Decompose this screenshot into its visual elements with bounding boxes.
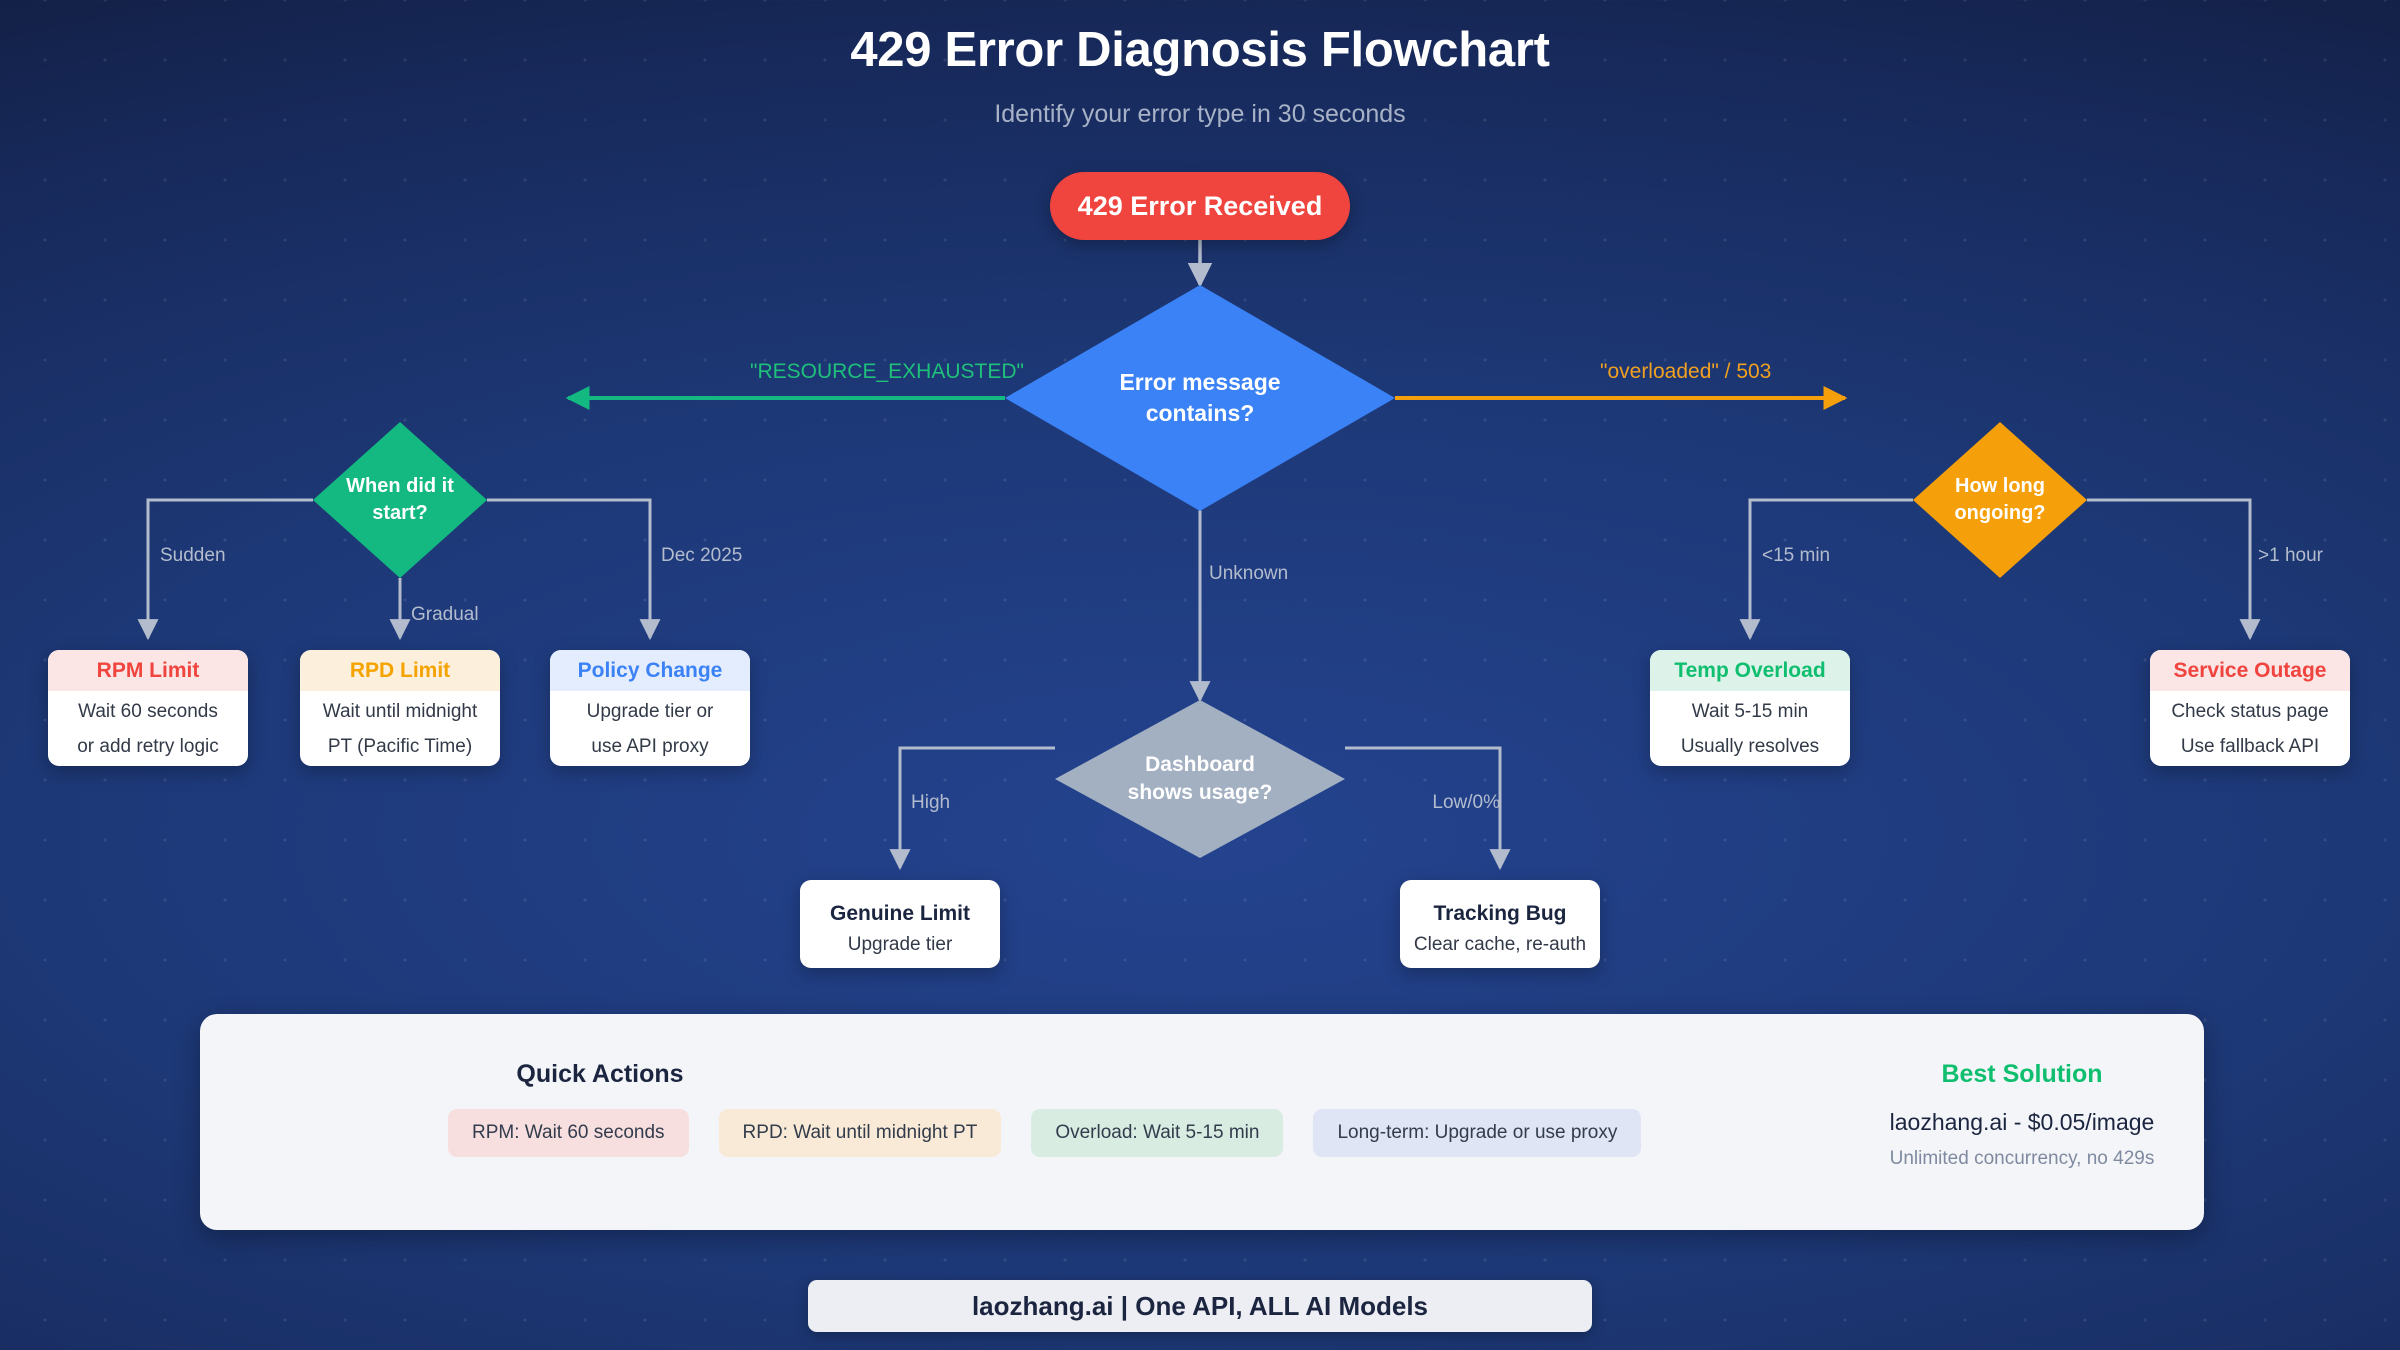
best-solution-heading: Best Solution (1640, 1060, 2400, 1089)
card-tracking-bug-title: Tracking Bug (1400, 880, 1600, 934)
decision-line-1: How long (1954, 473, 2045, 500)
node-decision-dashboard-usage-label: Dashboard shows usage? (1055, 700, 1345, 858)
quick-actions-chip-list: RPM: Wait 60 secondsRPD: Wait until midn… (448, 1109, 1641, 1157)
node-decision-when-start-label: When did it start? (313, 422, 487, 578)
card-body-line-2: PT (Pacific Time) (328, 736, 472, 759)
card-body-line-1: Wait 5-15 min (1692, 701, 1809, 724)
card-rpd-limit-body: Wait until midnight PT (Pacific Time) (300, 691, 500, 766)
node-decision-dashboard-usage[interactable]: Dashboard shows usage? (1055, 700, 1345, 858)
edge-label-gradual: Gradual (411, 604, 479, 626)
card-tracking-bug-body: Clear cache, re-auth (1400, 934, 1600, 968)
flowchart-canvas: 429 Error Diagnosis Flowchart Identify y… (0, 0, 2400, 1350)
decision-line-2: start? (346, 500, 454, 527)
card-body-line-1: Check status page (2171, 701, 2328, 724)
edge-label-low: Low/0% (1432, 792, 1500, 814)
card-body-line-1: Upgrade tier (848, 934, 953, 957)
edge-label-dec-2025: Dec 2025 (661, 545, 742, 567)
edge-label-high: High (911, 792, 950, 814)
node-decision-how-long-ongoing[interactable]: How long ongoing? (1913, 422, 2087, 578)
decision-line-2: contains? (1119, 398, 1280, 429)
node-decision-when-start[interactable]: When did it start? (313, 422, 487, 578)
card-body-line-2: use API proxy (591, 736, 708, 759)
card-body-line-1: Wait 60 seconds (78, 701, 218, 724)
node-start-label: 429 Error Received (1078, 191, 1323, 222)
node-decision-error-message[interactable]: Error message contains? (1005, 285, 1395, 511)
card-rpm-limit[interactable]: RPM Limit Wait 60 seconds or add retry l… (48, 650, 248, 766)
best-solution-main: laozhang.ai - $0.05/image (1640, 1109, 2400, 1136)
quick-action-chip-label: Long-term: Upgrade or use proxy (1337, 1122, 1617, 1144)
card-temp-overload-title: Temp Overload (1650, 650, 1850, 691)
quick-actions-heading: Quick Actions (360, 1060, 840, 1089)
edge-label-gt-1-hour: >1 hour (2258, 545, 2323, 567)
decision-line-1: Error message (1119, 367, 1280, 398)
summary-panel: Quick Actions RPM: Wait 60 secondsRPD: W… (200, 1014, 2204, 1230)
node-decision-error-message-label: Error message contains? (1005, 285, 1395, 511)
card-service-outage[interactable]: Service Outage Check status page Use fal… (2150, 650, 2350, 766)
node-decision-how-long-ongoing-label: How long ongoing? (1913, 422, 2087, 578)
card-genuine-limit[interactable]: Genuine Limit Upgrade tier (800, 880, 1000, 968)
card-temp-overload-body: Wait 5-15 min Usually resolves (1650, 691, 1850, 766)
quick-action-chip[interactable]: Long-term: Upgrade or use proxy (1313, 1109, 1641, 1157)
card-policy-change[interactable]: Policy Change Upgrade tier or use API pr… (550, 650, 750, 766)
card-policy-change-body: Upgrade tier or use API proxy (550, 691, 750, 766)
card-genuine-limit-body: Upgrade tier (800, 934, 1000, 968)
card-body-line-1: Upgrade tier or (587, 701, 714, 724)
card-service-outage-body: Check status page Use fallback API (2150, 691, 2350, 766)
quick-action-chip[interactable]: Overload: Wait 5-15 min (1031, 1109, 1283, 1157)
card-rpm-limit-title: RPM Limit (48, 650, 248, 691)
card-rpd-limit[interactable]: RPD Limit Wait until midnight PT (Pacifi… (300, 650, 500, 766)
card-policy-change-title: Policy Change (550, 650, 750, 691)
best-solution-content: laozhang.ai - $0.05/image Unlimited conc… (1640, 1109, 2400, 1170)
card-service-outage-title: Service Outage (2150, 650, 2350, 691)
card-tracking-bug[interactable]: Tracking Bug Clear cache, re-auth (1400, 880, 1600, 968)
edge-label-overloaded: "overloaded" / 503 (1600, 360, 1771, 384)
card-body-line-1: Clear cache, re-auth (1414, 934, 1586, 957)
footer-brand-label: laozhang.ai | One API, ALL AI Models (972, 1291, 1428, 1322)
quick-action-chip-label: RPD: Wait until midnight PT (743, 1122, 978, 1144)
card-body-line-2: Use fallback API (2181, 736, 2319, 759)
footer-brand-banner[interactable]: laozhang.ai | One API, ALL AI Models (808, 1280, 1592, 1332)
card-genuine-limit-title: Genuine Limit (800, 880, 1000, 934)
edge-label-unknown: Unknown (1209, 563, 1288, 585)
node-start-429-error[interactable]: 429 Error Received (1050, 172, 1350, 240)
decision-line-2: ongoing? (1954, 500, 2045, 527)
decision-line-1: When did it (346, 473, 454, 500)
quick-action-chip[interactable]: RPD: Wait until midnight PT (719, 1109, 1002, 1157)
edge-label-resource-exhausted: "RESOURCE_EXHAUSTED" (750, 360, 1024, 384)
card-rpm-limit-body: Wait 60 seconds or add retry logic (48, 691, 248, 766)
quick-action-chip[interactable]: RPM: Wait 60 seconds (448, 1109, 689, 1157)
card-body-line-2: Usually resolves (1681, 736, 1819, 759)
card-body-line-1: Wait until midnight (323, 701, 478, 724)
card-temp-overload[interactable]: Temp Overload Wait 5-15 min Usually reso… (1650, 650, 1850, 766)
best-solution-sub: Unlimited concurrency, no 429s (1640, 1148, 2400, 1170)
quick-action-chip-label: Overload: Wait 5-15 min (1055, 1122, 1259, 1144)
card-body-line-2: or add retry logic (77, 736, 219, 759)
edge-label-sudden: Sudden (160, 545, 226, 567)
edge-label-lt-15-min: <15 min (1762, 545, 1830, 567)
quick-action-chip-label: RPM: Wait 60 seconds (472, 1122, 665, 1144)
card-rpd-limit-title: RPD Limit (300, 650, 500, 691)
decision-line-2: shows usage? (1128, 779, 1273, 807)
decision-line-1: Dashboard (1128, 751, 1273, 779)
